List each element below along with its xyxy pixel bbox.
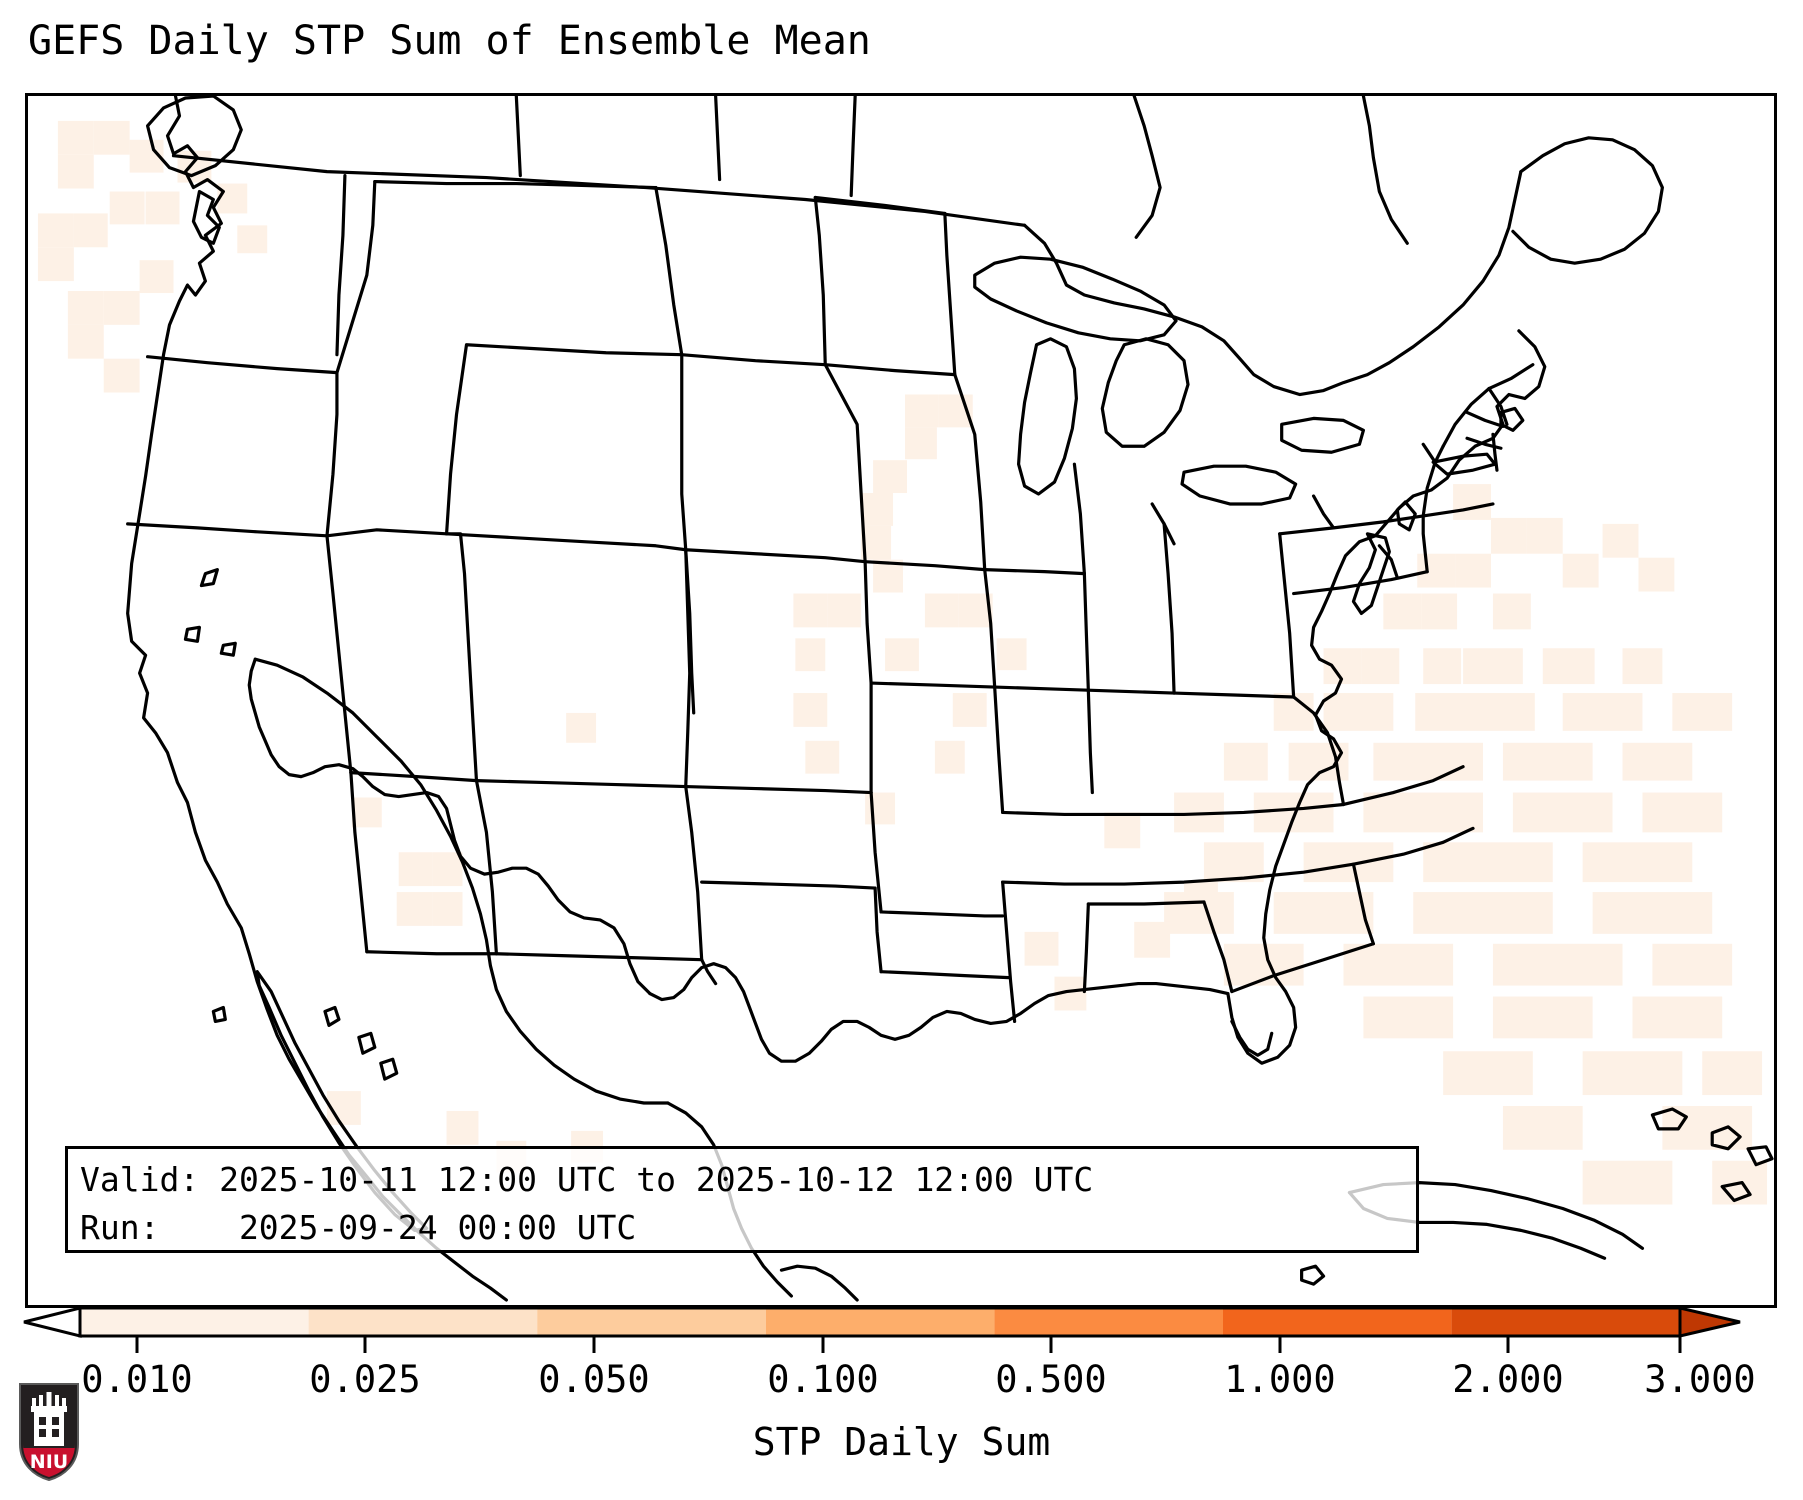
- colorbar-band-2: [537, 1308, 766, 1336]
- valid-time-line: Valid: 2025-10-11 12:00 UTC to 2025-10-1…: [80, 1156, 1404, 1204]
- niu-shield-icon: NIU: [18, 1382, 80, 1482]
- niu-logo: NIU: [18, 1382, 80, 1482]
- colorbar-tick-label-0: 0.010: [81, 1358, 192, 1401]
- data-shading-layer: [38, 121, 1767, 1205]
- colorbar-extend-min-arrow: [24, 1308, 80, 1336]
- colorbar-tick-label-5: 1.000: [1224, 1358, 1335, 1401]
- colorbar-band-4: [994, 1308, 1223, 1336]
- colorbar-band-0: [80, 1308, 309, 1336]
- page-title: GEFS Daily STP Sum of Ensemble Mean: [28, 18, 871, 64]
- colorbar-axis-label: STP Daily Sum: [0, 1420, 1803, 1464]
- colorbar-tick-label-1: 0.025: [309, 1358, 420, 1401]
- colorbar-band-3: [766, 1308, 995, 1336]
- colorbar: [0, 1300, 1803, 1360]
- niu-logo-text: NIU: [30, 1451, 68, 1473]
- colorbar-tick-label-3: 0.100: [767, 1358, 878, 1401]
- colorbar-tick-label-7: 3.000: [1644, 1358, 1755, 1401]
- colorbar-canvas: [0, 1300, 1803, 1360]
- colorbar-bands: [80, 1308, 1680, 1336]
- map-panel: [25, 93, 1777, 1308]
- colorbar-extend-max-arrow: [1680, 1308, 1740, 1336]
- colorbar-tick-label-6: 2.000: [1452, 1358, 1563, 1401]
- colorbar-band-5: [1223, 1308, 1452, 1336]
- colorbar-tick-label-4: 0.500: [995, 1358, 1106, 1401]
- colorbar-tick-label-2: 0.050: [538, 1358, 649, 1401]
- colorbar-ticks: [137, 1336, 1680, 1353]
- colorbar-band-1: [309, 1308, 538, 1336]
- run-time-line: Run: 2025-09-24 00:00 UTC: [80, 1204, 1404, 1252]
- colorbar-band-6: [1452, 1308, 1680, 1336]
- map-canvas: [28, 96, 1774, 1305]
- forecast-info-box: Valid: 2025-10-11 12:00 UTC to 2025-10-1…: [65, 1146, 1419, 1253]
